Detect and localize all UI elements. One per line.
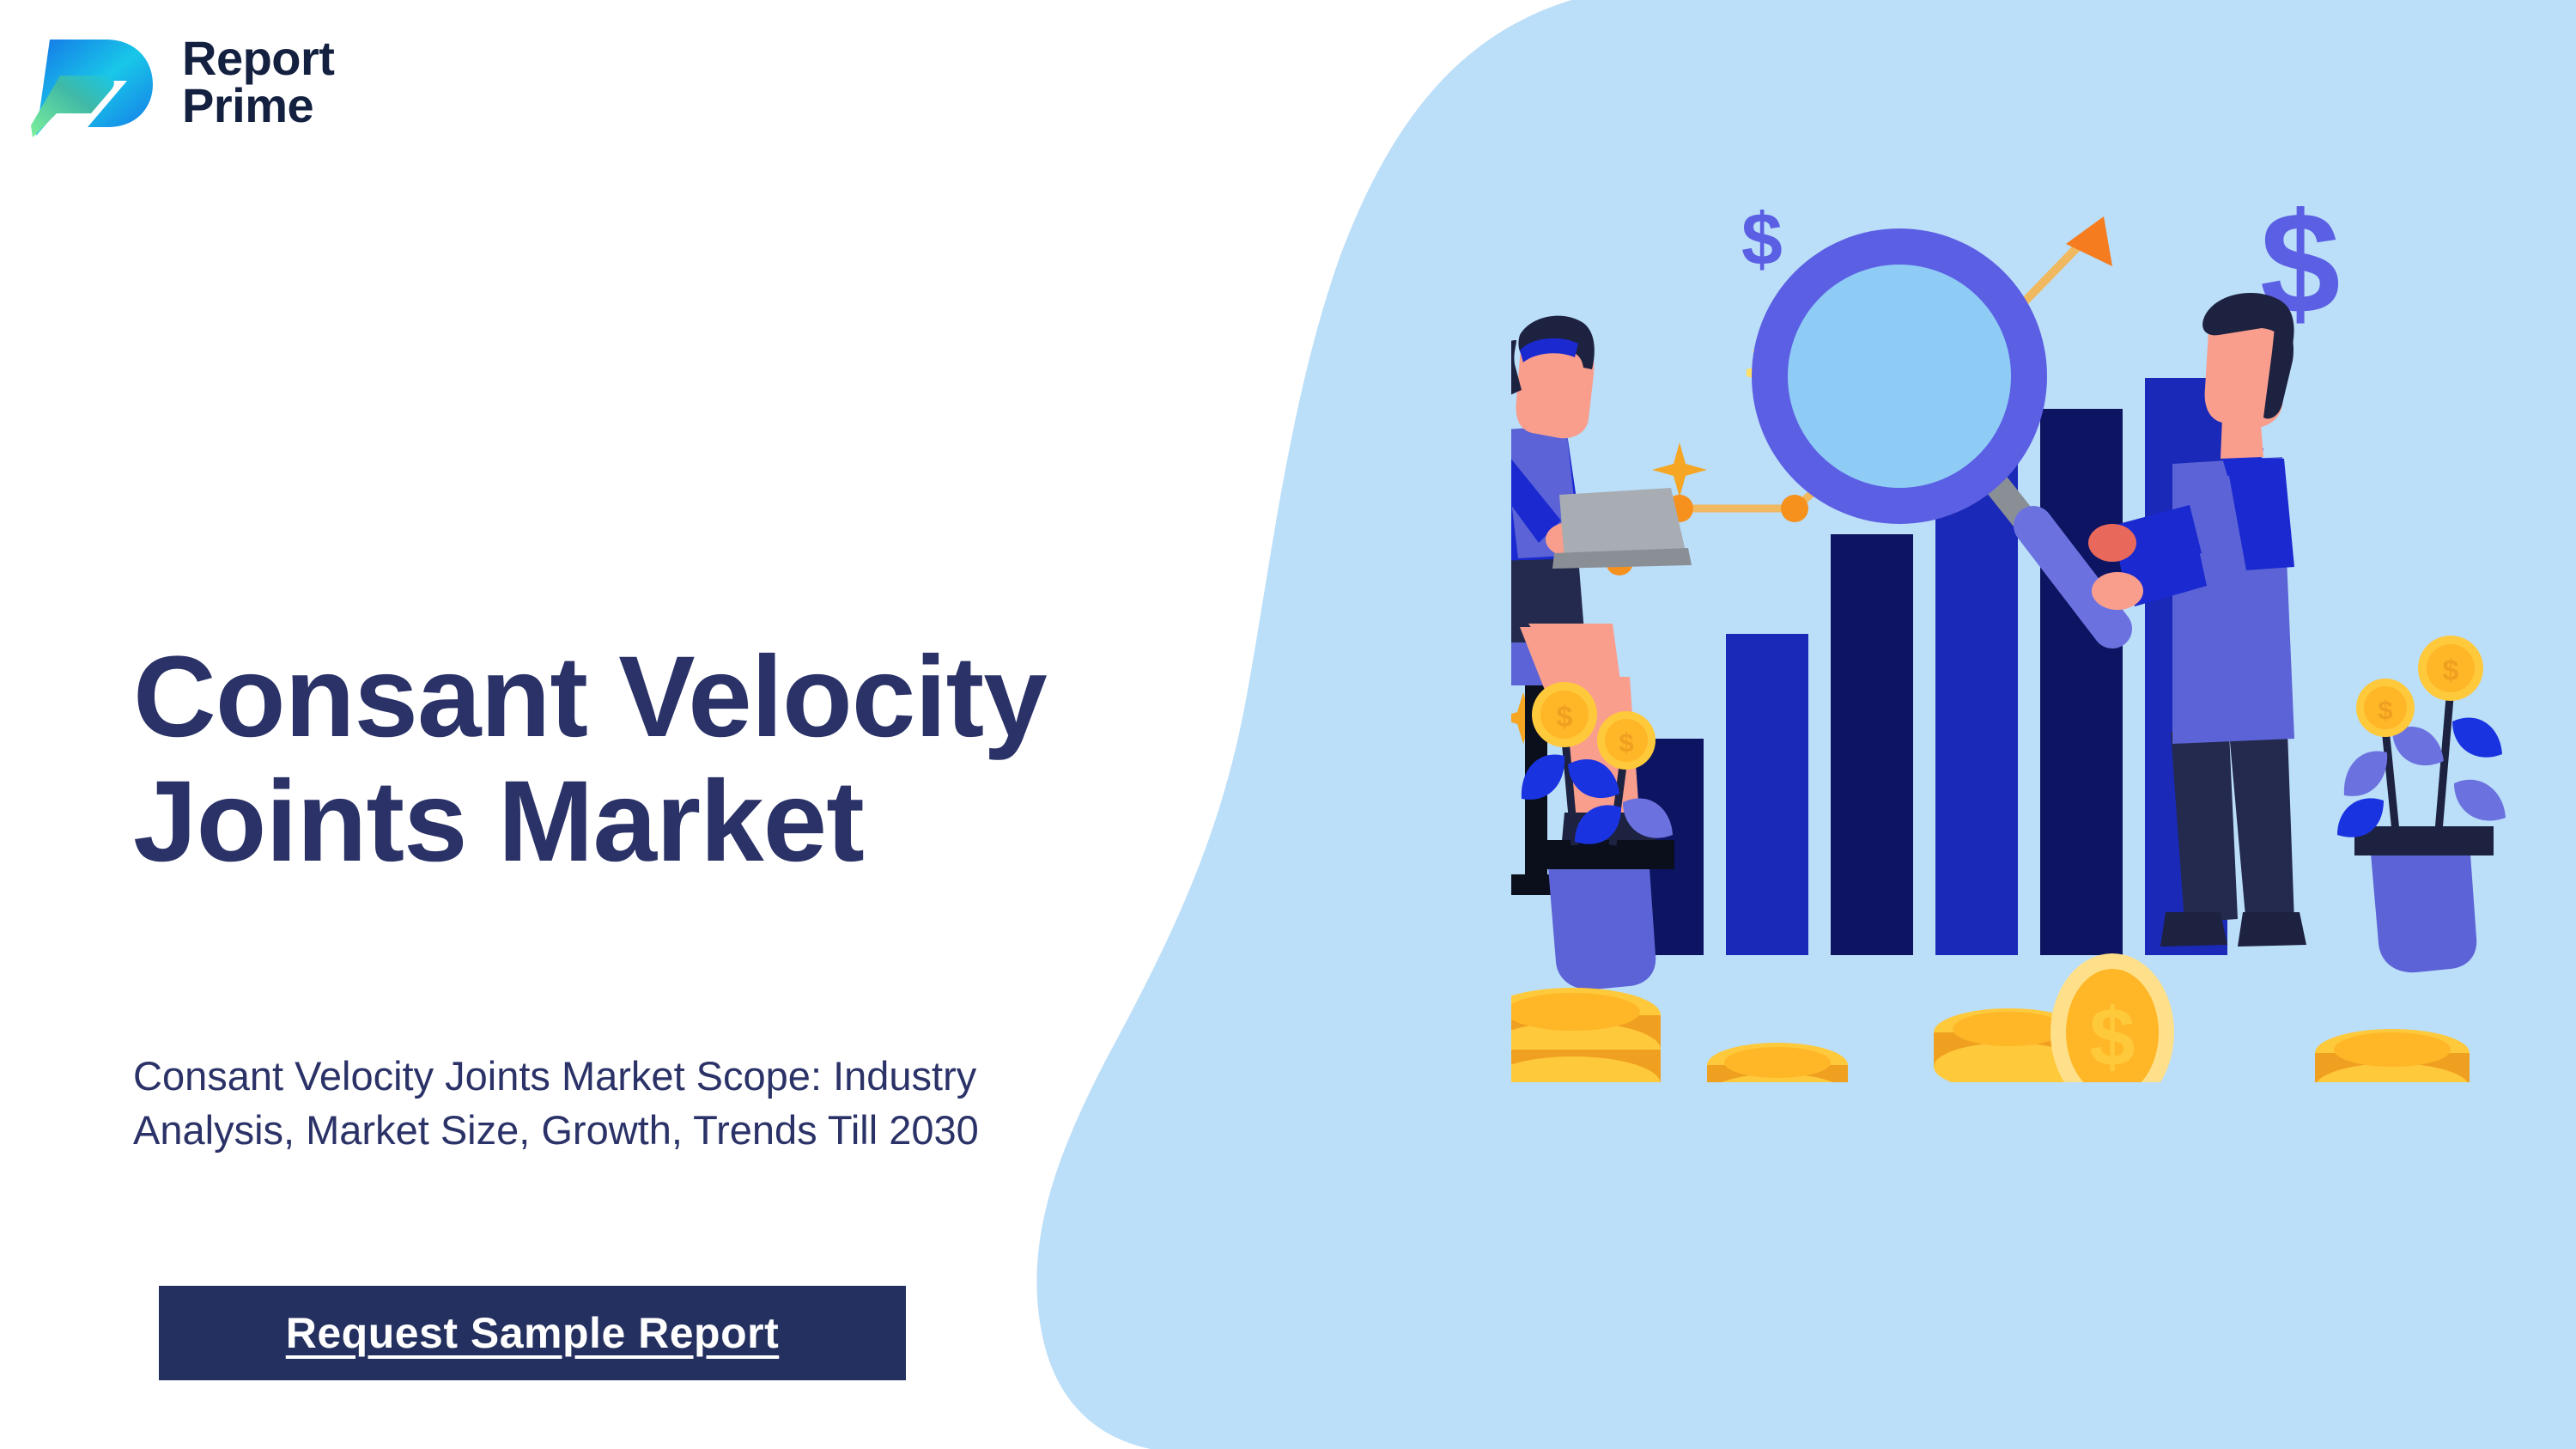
svg-text:$: $ <box>1619 728 1633 758</box>
svg-text:$: $ <box>2089 991 2135 1082</box>
market-research-illustration: $ $ <box>1511 206 2524 1082</box>
brand-logo[interactable]: Report Prime <box>31 22 334 143</box>
coin-stacks: $ <box>1511 953 2470 1082</box>
page-subtitle: Consant Velocity Joints Market Scope: In… <box>133 1050 1473 1158</box>
brand-name-line2: Prime <box>182 82 334 130</box>
headline-line-1: Consant Velocity <box>133 633 1047 761</box>
svg-text:$: $ <box>1741 206 1783 281</box>
dollar-sign-small-icon: $ <box>1741 206 1783 281</box>
subtitle-line-2: Analysis, Market Size, Growth, Trends Ti… <box>133 1104 1473 1158</box>
brand-wordmark: Report Prime <box>182 35 334 130</box>
request-sample-report-button[interactable]: Request Sample Report <box>159 1286 906 1380</box>
hero-banner: $ $ <box>0 0 2576 1449</box>
request-sample-report-label: Request Sample Report <box>286 1308 780 1358</box>
brand-name-line1: Report <box>182 35 334 82</box>
subtitle-line-1: Consant Velocity Joints Market Scope: In… <box>133 1053 976 1099</box>
report-prime-r-logo-icon <box>31 22 160 143</box>
svg-text:$: $ <box>2378 695 2392 725</box>
page-title: Consant Velocity Joints Market <box>133 636 1593 884</box>
money-plant-right: $ $ <box>2337 636 2506 972</box>
svg-text:$: $ <box>2443 654 2459 687</box>
headline-line-2: Joints Market <box>133 760 1593 885</box>
